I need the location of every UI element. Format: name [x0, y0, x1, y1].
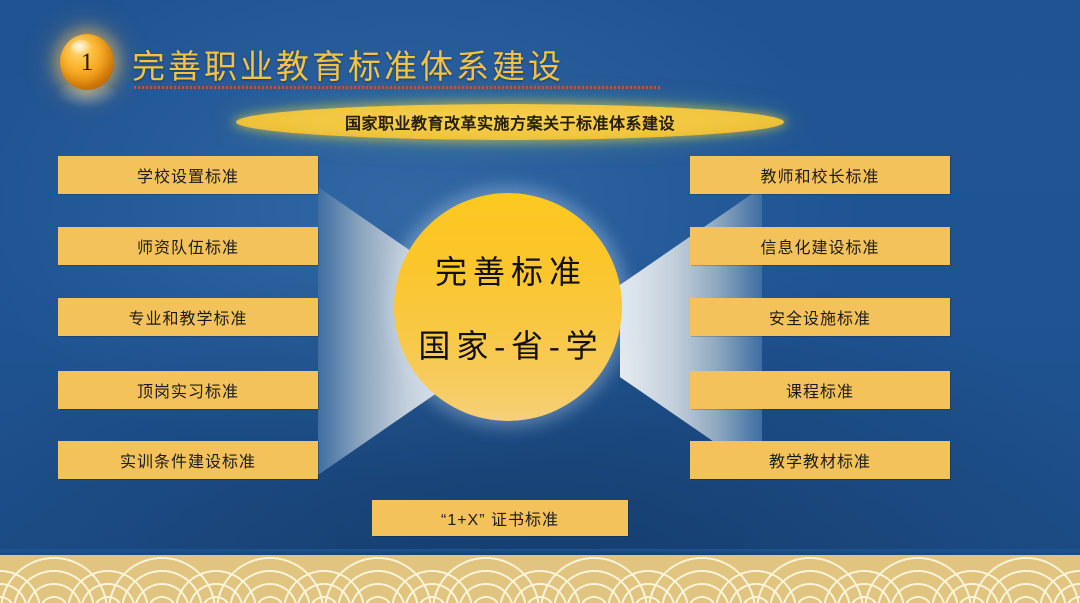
slide-canvas: 1 完善职业教育标准体系建设 国家职业教育改革实施方案关于标准体系建设 完善标准…	[0, 0, 1080, 603]
center-circle-line-1: 完善标准	[429, 247, 587, 293]
left-standard-box-2[interactable]: 师资队伍标准	[58, 227, 318, 265]
badge-number-label: 1	[81, 50, 94, 75]
right-standard-box-3[interactable]: 安全设施标准	[690, 298, 950, 336]
center-circle: 完善标准 国家-省-学	[394, 193, 622, 421]
bottom-standard-label: “1+X” 证书标准	[441, 506, 559, 530]
right-standard-label-1: 教师和校长标准	[760, 163, 879, 187]
title-underline	[134, 86, 662, 89]
right-standard-label-5: 教学教材标准	[769, 448, 871, 472]
left-standard-label-1: 学校设置标准	[137, 163, 239, 187]
seigaiha-wave-pattern-offset	[0, 551, 1080, 579]
bottom-standard-box[interactable]: “1+X” 证书标准	[372, 500, 628, 536]
left-standard-label-2: 师资队伍标准	[137, 234, 239, 258]
right-standard-box-1[interactable]: 教师和校长标准	[690, 156, 950, 194]
left-standard-box-5[interactable]: 实训条件建设标准	[58, 441, 318, 479]
page-title: 完善职业教育标准体系建设	[132, 40, 564, 88]
right-standard-label-4: 课程标准	[786, 378, 854, 402]
left-standard-label-4: 顶岗实习标准	[137, 378, 239, 402]
slide-header: 1 完善职业教育标准体系建设	[46, 20, 746, 92]
left-standard-box-3[interactable]: 专业和教学标准	[58, 298, 318, 336]
left-standard-box-1[interactable]: 学校设置标准	[58, 156, 318, 194]
left-standard-label-5: 实训条件建设标准	[120, 448, 256, 472]
right-standard-label-3: 安全设施标准	[769, 305, 871, 329]
left-standard-label-3: 专业和教学标准	[128, 305, 247, 329]
subtitle-banner: 国家职业教育改革实施方案关于标准体系建设	[236, 104, 784, 140]
right-standard-box-2[interactable]: 信息化建设标准	[690, 227, 950, 265]
subtitle-label: 国家职业教育改革实施方案关于标准体系建设	[345, 110, 675, 134]
right-standard-label-2: 信息化建设标准	[760, 234, 879, 258]
center-circle-line-2: 国家-省-学	[412, 321, 603, 367]
right-standard-box-4[interactable]: 课程标准	[690, 371, 950, 409]
left-standard-box-4[interactable]: 顶岗实习标准	[58, 371, 318, 409]
right-standard-box-5[interactable]: 教学教材标准	[690, 441, 950, 479]
numbered-sphere-icon: 1	[60, 34, 114, 90]
